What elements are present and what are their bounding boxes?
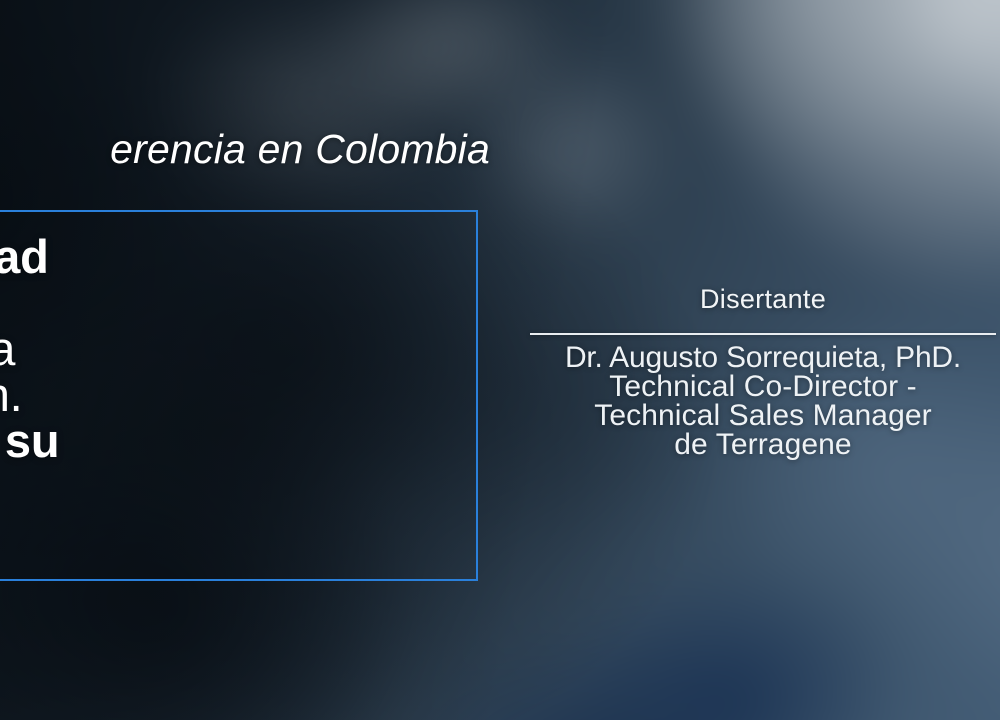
speaker-role-line-3: de Terragene bbox=[530, 430, 996, 459]
speaker-kicker-label: Disertante bbox=[530, 282, 996, 316]
headline-line-1: n la trazabilidad bbox=[0, 234, 402, 280]
headline-line-4: e esterilización. bbox=[0, 372, 402, 418]
headline-line-5: al alcance de su bbox=[0, 418, 402, 464]
slide-headline: n la trazabilidadsistemas deeo dentro de… bbox=[0, 234, 402, 510]
speaker-role-line-2: Technical Sales Manager bbox=[530, 401, 996, 430]
speaker-details: Dr. Augusto Sorrequieta, PhD.Technical C… bbox=[530, 343, 996, 459]
headline-frame-box: n la trazabilidadsistemas deeo dentro de… bbox=[0, 210, 478, 581]
speaker-block: Disertante Dr. Augusto Sorrequieta, PhD.… bbox=[530, 282, 996, 459]
speaker-divider-rule bbox=[530, 333, 996, 335]
speaker-name: Dr. Augusto Sorrequieta, PhD. bbox=[530, 343, 996, 372]
speaker-role-line-1: Technical Co-Director - bbox=[530, 372, 996, 401]
presentation-slide: erencia en Colombia n la trazabilidadsis… bbox=[0, 0, 1000, 720]
headline-emphasis: trazabilidad bbox=[0, 230, 49, 283]
headline-line-2: sistemas de bbox=[0, 280, 402, 326]
slide-eyebrow-title: erencia en Colombia bbox=[0, 126, 490, 173]
headline-line-6: mano. bbox=[0, 464, 402, 510]
headline-line-3: eo dentro de la bbox=[0, 326, 402, 372]
headline-emphasis: al alcance de su bbox=[0, 414, 59, 467]
